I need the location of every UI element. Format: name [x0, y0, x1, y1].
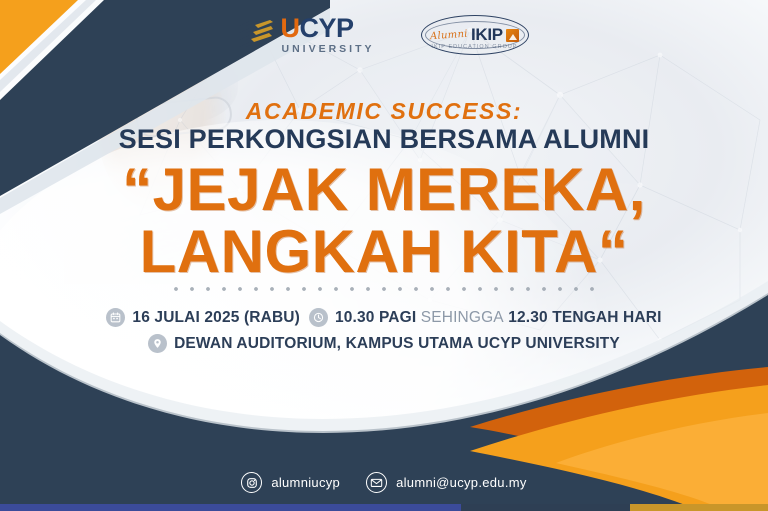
venue-text: DEWAN AUDITORIUM, KAMPUS UTAMA UCYP UNIV…: [174, 335, 620, 353]
alumni-ikip-logo: Alumni IKIP IKIP EDUCATION GROUP: [421, 12, 529, 58]
time-connector: SEHINGGA: [421, 309, 504, 326]
ikip-wordmark: IKIP: [471, 25, 503, 45]
ucyp-wordmark: UCYP UNIVERSITY: [280, 16, 374, 54]
email-address: alumni@ucyp.edu.my: [396, 475, 527, 490]
detail-row-venue: DEWAN AUDITORIUM, KAMPUS UTAMA UCYP UNIV…: [148, 334, 620, 353]
chevron-stripes-icon: [239, 20, 273, 50]
date-text: 16 JULAI 2025 (RABU): [132, 309, 300, 327]
ikip-lockup: Alumni IKIP: [430, 25, 519, 45]
detail-row-datetime: 16 JULAI 2025 (RABU) 10.30 PAGI SEHINGGA…: [106, 308, 661, 327]
ucyp-subtitle: UNIVERSITY: [281, 44, 374, 55]
instagram-handle: alumniucyp: [271, 475, 340, 490]
contact-email[interactable]: alumni@ucyp.edu.my: [366, 472, 527, 493]
kicker-text: ACADEMIC SUCCESS:: [0, 98, 768, 125]
ikip-badge-icon: [506, 29, 519, 42]
event-poster: UCYP UNIVERSITY Alumni IKIP IKIP EDUCATI…: [0, 0, 768, 511]
title-line-2: LANGKAH KITA“: [0, 222, 768, 282]
dotted-divider: [168, 286, 602, 292]
ikip-subtitle: IKIP EDUCATION GROUP: [421, 44, 529, 50]
instagram-icon: [241, 472, 262, 493]
calendar-icon: [106, 308, 125, 327]
time-end: 12.30 TENGAH HARI: [508, 309, 661, 326]
detail-date: 16 JULAI 2025 (RABU): [106, 308, 300, 327]
time-text: 10.30 PAGI SEHINGGA 12.30 TENGAH HARI: [335, 309, 662, 327]
ucyp-university-logo: UCYP UNIVERSITY: [239, 16, 374, 54]
ucyp-name: UCYP: [280, 16, 374, 42]
ucyp-letter-u: U: [280, 13, 299, 43]
footer-contact-bar: alumniucyp alumni@ucyp.edu.my: [0, 472, 768, 493]
title-line-1: “JEJAK MEREKA,: [0, 160, 768, 220]
detail-time: 10.30 PAGI SEHINGGA 12.30 TENGAH HARI: [309, 308, 662, 327]
ikip-script-alumni: Alumni: [430, 28, 468, 42]
poster-content: UCYP UNIVERSITY Alumni IKIP IKIP EDUCATI…: [0, 0, 768, 511]
event-title: “JEJAK MEREKA, LANGKAH KITA“: [0, 160, 768, 282]
location-pin-icon: [148, 334, 167, 353]
clock-icon: [309, 308, 328, 327]
time-start: 10.30 PAGI: [335, 309, 416, 326]
detail-venue: DEWAN AUDITORIUM, KAMPUS UTAMA UCYP UNIV…: [148, 334, 620, 353]
ucyp-letters-cyp: CYP: [299, 13, 353, 43]
subheading-text: SESI PERKONGSIAN BERSAMA ALUMNI: [0, 124, 768, 155]
event-details: 16 JULAI 2025 (RABU) 10.30 PAGI SEHINGGA…: [0, 308, 768, 353]
logo-row: UCYP UNIVERSITY Alumni IKIP IKIP EDUCATI…: [0, 12, 768, 58]
contact-instagram[interactable]: alumniucyp: [241, 472, 340, 493]
envelope-icon: [366, 472, 387, 493]
